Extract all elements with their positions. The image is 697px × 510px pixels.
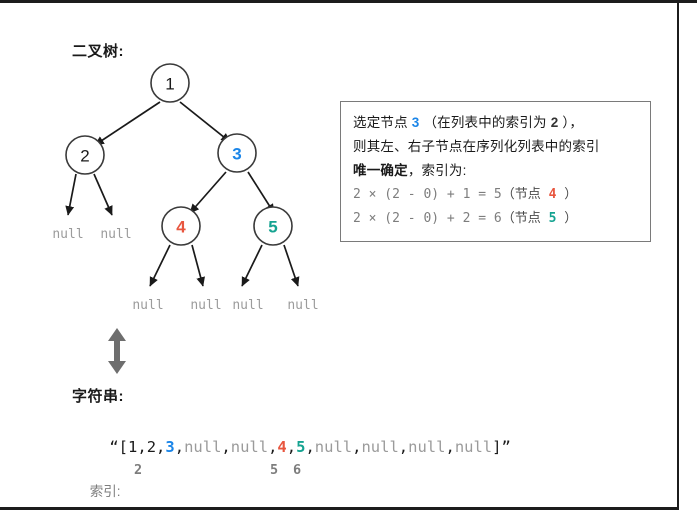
tree-node-3[interactable]: 3: [218, 134, 256, 172]
explanation-line-3-rest: ，索引为:: [408, 163, 467, 178]
edge-4-to-null-left: [150, 245, 170, 286]
index-row: 索引:: [72, 462, 121, 510]
bracket-open: [: [119, 438, 128, 456]
string-token-9: null: [408, 438, 445, 456]
formula-left-node-prefix: （节点: [502, 187, 541, 202]
null-leaf-label: null: [100, 227, 131, 242]
edge-2-to-null-right: [94, 174, 112, 215]
tree-node-1-label: 1: [165, 75, 174, 94]
string-token-10: null: [455, 438, 492, 456]
edge-5-to-null-right: [284, 245, 298, 286]
formula-left-node-suffix: ）: [564, 187, 577, 202]
edge-2-to-null-left: [68, 174, 76, 215]
string-token-6: 5: [296, 438, 305, 456]
null-leaf-label: null: [287, 298, 318, 313]
page-border-right: [677, 0, 679, 510]
index-mark-5: 5: [270, 462, 278, 478]
close-quote: ”: [501, 438, 510, 456]
string-token-2: 3: [165, 438, 174, 456]
index-mark-6: 6: [293, 462, 301, 478]
string-section-heading: 字符串:: [72, 385, 124, 406]
vertical-double-arrow-icon: [103, 327, 131, 375]
explanation-line-1: 选定节点 3 （在列表中的索引为 2 ），: [353, 111, 638, 135]
tree-node-5-label: 5: [268, 218, 277, 237]
edge-5-to-null-left: [242, 245, 262, 286]
formula-right-child: 2 × (2 - 0) + 2 = 6（节点 5 ）: [353, 207, 638, 231]
index-mark-2: 2: [134, 462, 142, 478]
string-token-4: null: [231, 438, 268, 456]
formula-left-expression: 2 × (2 - 0) + 1 = 5: [353, 187, 502, 202]
formula-right-node-prefix: （节点: [502, 211, 541, 226]
tree-node-5[interactable]: 5: [254, 207, 292, 245]
string-token-3: null: [184, 438, 221, 456]
diagram-page: 二叉树: 1 2: [0, 0, 697, 510]
null-leaf-label: null: [132, 298, 163, 313]
string-token-1: 2: [147, 438, 156, 456]
formula-left-child: 2 × (2 - 0) + 1 = 5（节点 4 ）: [353, 183, 638, 207]
edge-3-to-4: [190, 172, 226, 213]
explanation-line-1-part-e: ），: [562, 115, 583, 130]
tree-node-4[interactable]: 4: [162, 207, 200, 245]
null-leaf-label: null: [232, 298, 263, 313]
string-token-0: 1: [128, 438, 137, 456]
tree-node-1[interactable]: 1: [151, 64, 189, 102]
null-leaf-label: null: [190, 298, 221, 313]
formula-right-expression: 2 × (2 - 0) + 2 = 6: [353, 211, 502, 226]
open-quote: “: [109, 438, 118, 456]
explanation-line-1-part-a: 选定节点: [353, 115, 408, 130]
binary-tree-diagram: 1 2 3 4 5 null null null null null null: [40, 58, 340, 318]
string-token-8: null: [361, 438, 398, 456]
index-row-label: 索引:: [90, 484, 121, 499]
explanation-line-3: 唯一确定，索引为:: [353, 159, 638, 183]
tree-node-2-label: 2: [80, 147, 89, 166]
tree-node-4-label: 4: [176, 218, 186, 237]
string-token-7: null: [315, 438, 352, 456]
explanation-line-2: 则其左、右子节点在序列化列表中的索引: [353, 135, 638, 159]
tree-node-2[interactable]: 2: [66, 136, 104, 174]
page-border-top: [0, 0, 697, 3]
explanation-box: 选定节点 3 （在列表中的索引为 2 ）， 则其左、右子节点在序列化列表中的索引…: [340, 101, 651, 242]
explanation-line-1-part-c: （在列表中的索引为: [423, 115, 546, 130]
string-token-5: 4: [277, 438, 286, 456]
edge-4-to-null-right: [192, 245, 203, 286]
null-leaf-label: null: [52, 227, 83, 242]
edge-1-to-3: [180, 102, 230, 142]
tree-node-3-label: 3: [232, 145, 241, 164]
explanation-emphasis: 唯一确定: [353, 163, 408, 178]
edge-1-to-2: [95, 102, 160, 145]
formula-right-node-suffix: ）: [564, 211, 577, 226]
